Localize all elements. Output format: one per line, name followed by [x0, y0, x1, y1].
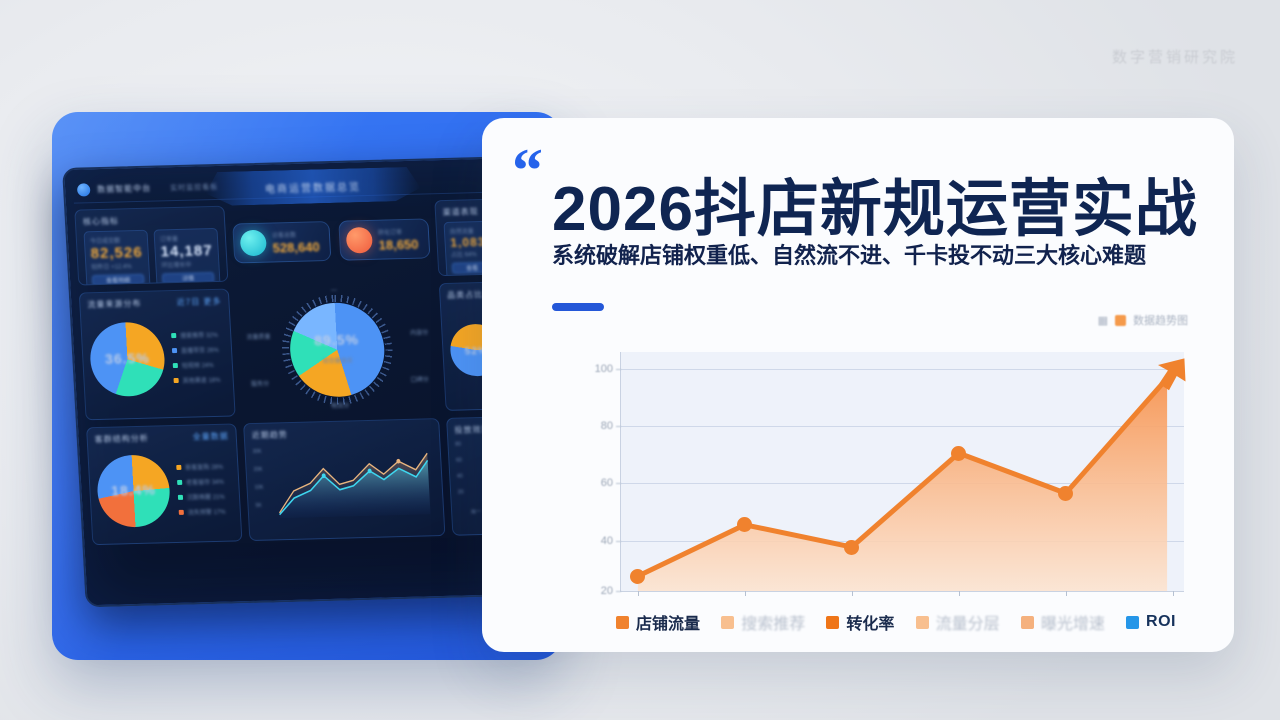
data-point-marker [844, 540, 859, 555]
x-axis-tick [959, 591, 960, 596]
legend-label: 直播带货 26% [181, 345, 219, 355]
panel-traffic-action[interactable]: 近7日 更多 [176, 296, 221, 308]
dashboard-title-label: 电商运营数据总览 [264, 178, 361, 195]
area-chart-mini: 30K 20K 10K 5K 1月 2月 3月 4月 5月 [252, 440, 437, 541]
accent-divider [552, 303, 604, 311]
page-subtitle: 系统破解店铺权重低、自然流不进、千卡投不动三大核心难题 [552, 238, 1146, 270]
chart-top-legend-label: 数据趋势图 [1133, 312, 1188, 328]
panel-customer-structure: 客群结构分析 全量数据 18.4% 新客复购 28% 老客留存 34% 沉默唤醒… [86, 423, 242, 545]
mid-kpi-value: 528,640 [272, 239, 320, 255]
kpi-card[interactable]: 今日成交额 82,526 较昨日 +12.4% 查看明细 [83, 230, 150, 286]
growth-chart: ▦ 数据趋势图 100 80 60 40 20 [574, 330, 1192, 630]
mid-kpi-group: 访客总数 528,640 转化订单 18,650 [231, 200, 431, 281]
panel-trend-title: 近期趋势 [251, 425, 431, 441]
dashboard-title-strip: 电商运营数据总览 [204, 167, 421, 207]
x-axis-tick [852, 591, 853, 596]
legend-item: 老客留存 34% [177, 477, 224, 487]
x-axis-tick [638, 591, 639, 596]
bar-ytick: 80 [455, 442, 461, 448]
chart-series-line [621, 352, 1184, 591]
donut-customer: 18.4% [96, 454, 172, 528]
legend-swatch [1126, 616, 1139, 629]
x-axis-tick [1066, 591, 1067, 596]
legend-swatch [916, 616, 929, 629]
kpi-detail-button[interactable]: 查看明细 [92, 274, 145, 286]
donut-traffic-legend: 搜索推荐 32% 直播带货 26% 短视频 24% 其他渠道 18% [171, 330, 221, 385]
bar-ytick: 20 [458, 489, 464, 495]
legend-label: 转化率 [846, 610, 894, 634]
legend-item-store-traffic[interactable]: 店铺流量 [616, 610, 700, 634]
donut-customer-legend: 新客复购 28% 老客留存 34% 沉默唤醒 21% 流失预警 17% [176, 462, 226, 517]
legend-item-search-recommend[interactable]: 搜索推荐 [721, 610, 805, 634]
y-axis-tick: 20 [601, 585, 613, 597]
bar-xtick: 周一 [471, 508, 481, 515]
kpi-card[interactable]: 订单量 14,187 环比增长中 详情 [153, 228, 220, 286]
panel-customer-title: 客群结构分析 [94, 433, 149, 445]
legend-label: 店铺流量 [636, 610, 700, 634]
legend-label: 新客复购 28% [185, 462, 223, 472]
donut-value: 18.4% [111, 481, 157, 498]
gauge-value: 89.5% [314, 331, 360, 348]
gauge-health-score: 89.5% 综合健康度 流量质量 内容分 服务分 口碑分 物流分 — [236, 283, 439, 416]
chart-top-legend: ▦ 数据趋势图 [1098, 312, 1188, 328]
chart-legend-swatch [1115, 315, 1126, 326]
kpi-sub: 较昨日 +12.4% [91, 261, 143, 271]
panel-core-metrics-header: 核心指标 [83, 213, 218, 227]
gauge-sub: 综合健康度 [323, 358, 353, 365]
area-ytick: 10K [254, 485, 263, 491]
chart-plot-area: 100 80 60 40 20 [620, 352, 1184, 592]
area-xtick: 4月 [390, 540, 398, 541]
data-point-marker [951, 446, 966, 461]
dashboard-brand-label: 数据智能中台 [97, 183, 152, 195]
conversion-icon [346, 227, 373, 254]
gauge-tick-label: 服务分 [251, 378, 270, 387]
mid-kpi-label: 访客总数 [272, 229, 319, 239]
kpi-sub: 环比增长中 [161, 259, 213, 269]
data-point-marker [1058, 486, 1073, 501]
legend-label: ROI [1146, 613, 1176, 631]
donut-traffic-source: 36.5% [88, 321, 166, 397]
visitor-icon [240, 230, 267, 257]
legend-label: 流量分层 [936, 610, 1000, 634]
panel-customer-header: 客群结构分析 全量数据 [94, 431, 229, 445]
gauge-tick-label: 流量质量 [246, 331, 271, 341]
legend-item: 搜索推荐 32% [171, 330, 218, 340]
kpi-value: 14,187 [160, 242, 213, 260]
panel-core-metrics: 核心指标 今日成交额 82,526 较昨日 +12.4% 查看明细 订单量 14… [74, 206, 228, 286]
x-axis-tick [1173, 591, 1174, 596]
donut-value: 36.5% [105, 350, 151, 367]
kpi-row-left: 今日成交额 82,526 较昨日 +12.4% 查看明细 订单量 14,187 … [83, 228, 220, 286]
page-title: 2026抖店新规运营实战 [552, 158, 1198, 248]
mid-kpi-conversions[interactable]: 转化订单 18,650 [338, 218, 430, 260]
area-ytick: 20K [253, 467, 262, 473]
watermark: 数字营销研究院 [1112, 46, 1238, 67]
legend-label: 流失预警 17% [188, 507, 226, 517]
area-ytick: 5K [255, 503, 261, 509]
legend-label: 老客留存 34% [186, 477, 224, 487]
legend-item-exposure-growth[interactable]: 曝光增速 [1021, 610, 1105, 634]
legend-label: 搜索推荐 32% [180, 330, 218, 340]
legend-item: 直播带货 26% [172, 345, 219, 355]
x-axis-tick [745, 591, 746, 596]
gauge-tick-label: 物流分 [331, 400, 350, 409]
gauge-top-label: — [331, 288, 337, 294]
legend-label: 其他渠道 18% [182, 375, 220, 385]
panel-category-title: 品类占比 [447, 289, 484, 301]
legend-item: 沉默唤醒 21% [178, 492, 225, 502]
legend-item: 短视频 24% [173, 360, 220, 370]
gauge-tick-label: 口碑分 [410, 374, 429, 383]
legend-item: 其他渠道 18% [173, 375, 220, 385]
panel-customer-action[interactable]: 全量数据 [192, 431, 229, 443]
panel-trend-area: 近期趋势 [243, 418, 445, 541]
legend-swatch [826, 616, 839, 629]
quote-icon: “ [512, 140, 543, 202]
brand-logo-icon [77, 183, 91, 196]
chart-bottom-legend: 店铺流量 搜索推荐 转化率 流量分层 曝光增速 ROI [610, 610, 1182, 634]
dashboard-grid: 核心指标 今日成交额 82,526 较昨日 +12.4% 查看明细 订单量 14… [74, 198, 545, 597]
mid-kpi-value: 18,650 [378, 236, 419, 252]
data-point-marker [630, 569, 645, 584]
bar-ytick: 40 [457, 473, 463, 479]
content-card: “ 2026抖店新规运营实战 系统破解店铺权重低、自然流不进、千卡投不动三大核心… [482, 118, 1234, 652]
bar-ytick: 60 [456, 458, 462, 464]
legend-label: 曝光增速 [1041, 610, 1105, 634]
trend-arrow-icon [1147, 354, 1191, 398]
gauge-tick-label: 内容分 [410, 327, 429, 336]
legend-label: 沉默唤醒 21% [187, 492, 225, 502]
panel-traffic-title: 流量来源分布 [87, 298, 142, 310]
area-xtick: 5月 [426, 539, 434, 541]
legend-item-traffic-layer[interactable]: 流量分层 [916, 610, 1000, 634]
legend-swatch [616, 616, 629, 629]
y-axis-tick: 60 [601, 477, 613, 489]
legend-swatch [1021, 616, 1034, 629]
area-ytick: 30K [252, 449, 261, 455]
legend-item: 流失预警 17% [179, 507, 226, 517]
y-axis-tick: 40 [601, 535, 613, 547]
kpi-detail-button[interactable]: 详情 [162, 272, 215, 284]
legend-swatch [721, 616, 734, 629]
panel-traffic-source: 流量来源分布 近7日 更多 36.5% 搜索推荐 32% 直播带货 26% 短视… [79, 289, 236, 421]
panel-traffic-header: 流量来源分布 近7日 更多 [87, 296, 222, 310]
y-axis-tick: 100 [595, 363, 613, 375]
y-axis-tick: 80 [601, 420, 613, 432]
kpi-value: 82,526 [90, 244, 143, 262]
chart-icon: ▦ [1098, 314, 1108, 327]
gridline-baseline: 20 [621, 591, 1184, 592]
legend-item: 新客复购 28% [176, 462, 223, 472]
mid-kpi-visitors[interactable]: 访客总数 528,640 [232, 221, 331, 263]
legend-label: 短视频 24% [182, 360, 214, 370]
series-line [638, 378, 1167, 576]
legend-label: 搜索推荐 [741, 610, 805, 634]
legend-item-roi[interactable]: ROI [1126, 613, 1176, 631]
mid-kpi-label: 转化订单 [378, 226, 418, 236]
legend-item-conversion-rate[interactable]: 转化率 [826, 610, 894, 634]
panel-channel-title: 渠道表现 [442, 206, 479, 218]
